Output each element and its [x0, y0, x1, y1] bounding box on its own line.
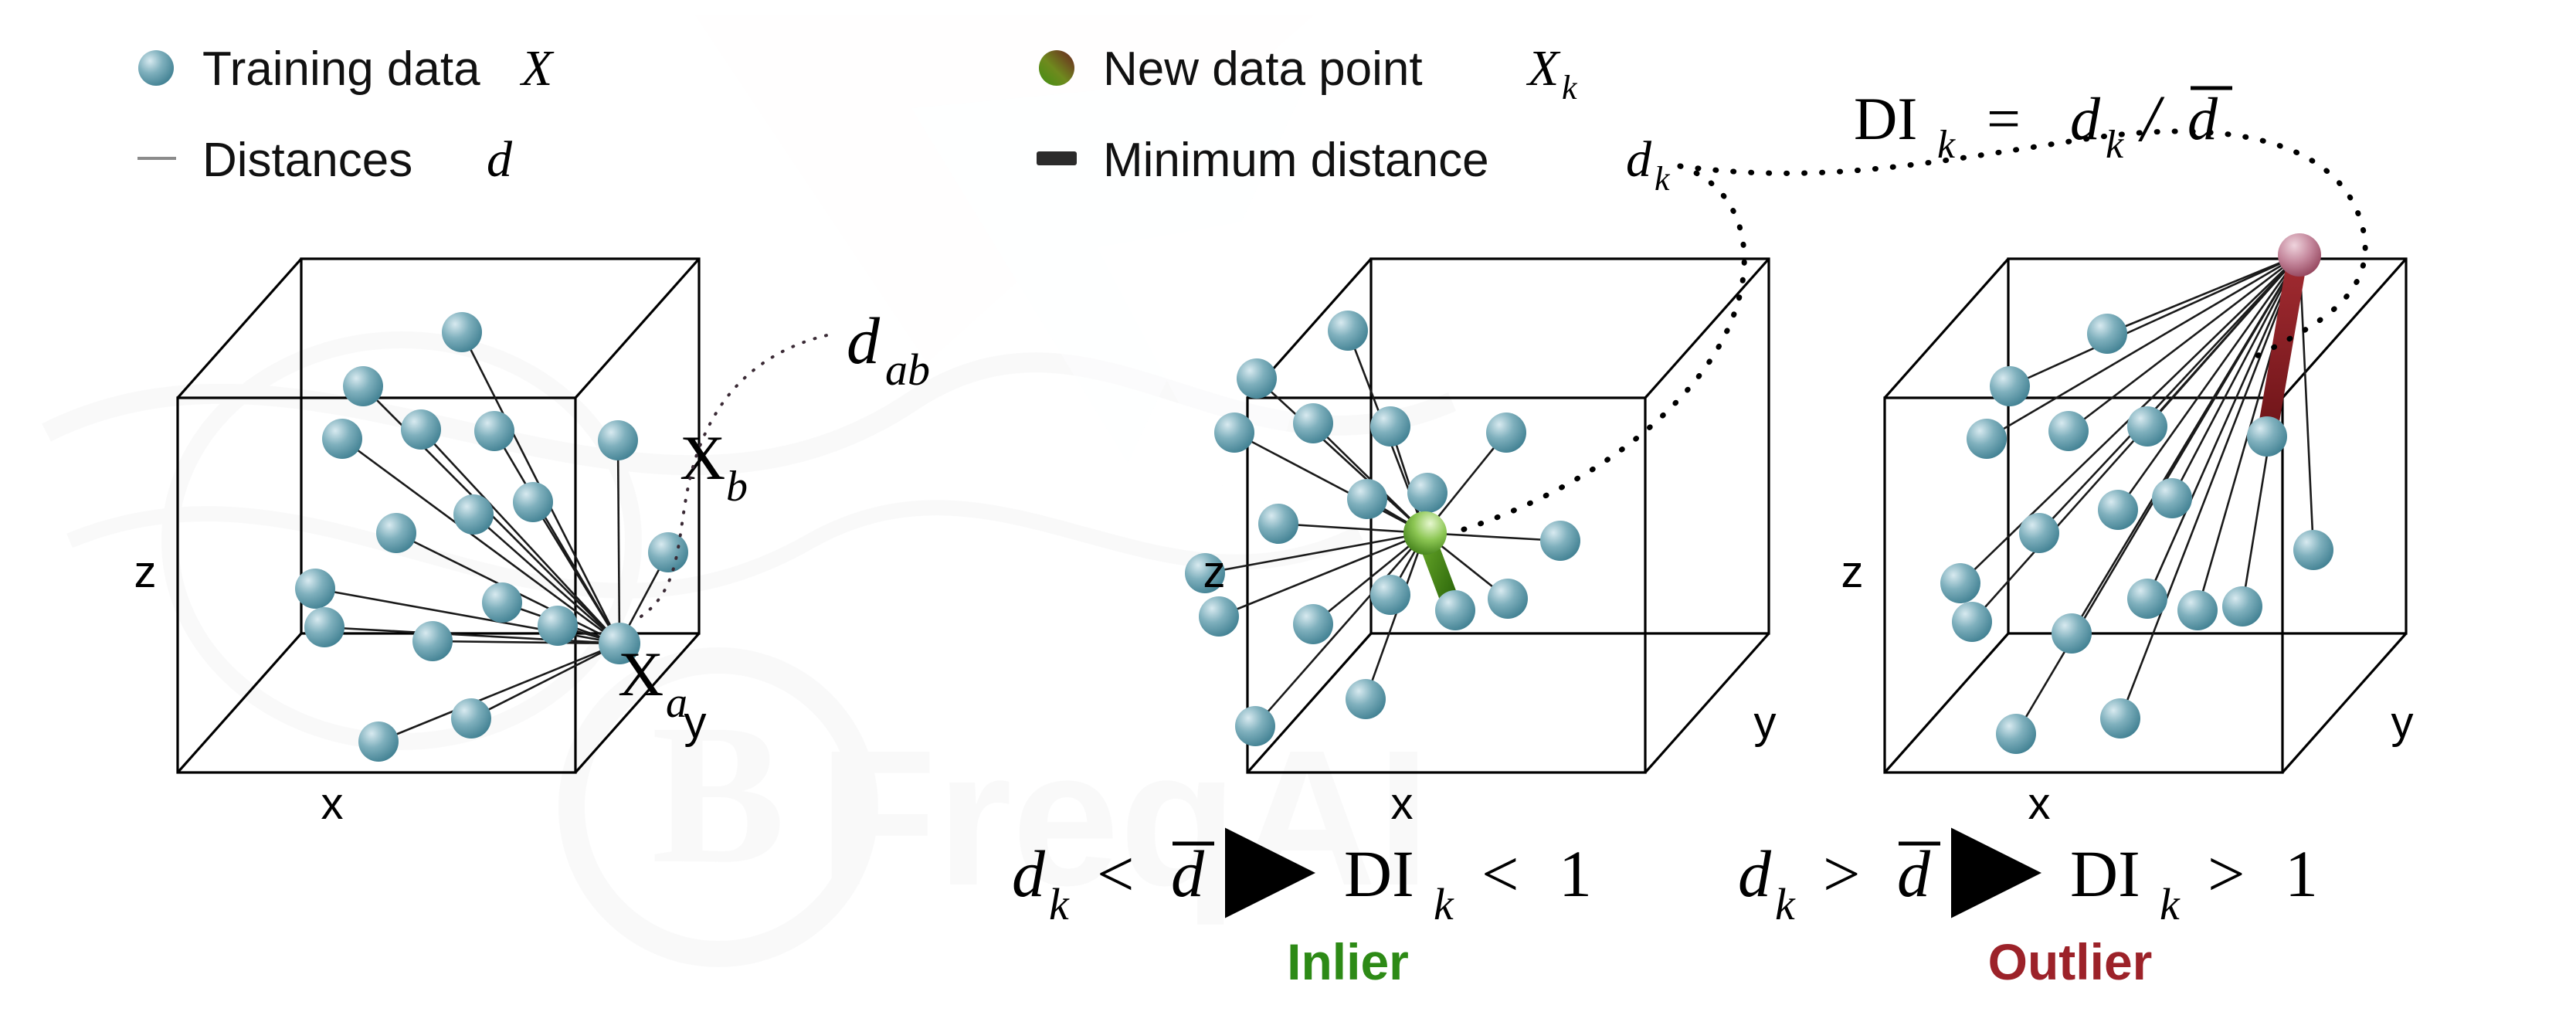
- training-point: [2222, 586, 2262, 626]
- panel-inlier: z x y: [1185, 259, 1777, 829]
- training-point: [1952, 602, 1992, 642]
- training-point: [401, 409, 441, 450]
- training-point: [295, 569, 335, 609]
- training-point: [1996, 714, 2036, 754]
- axis-label-x: x: [2028, 779, 2051, 829]
- axis-label-x: x: [321, 779, 344, 829]
- thick-dash-icon: [1037, 151, 1077, 165]
- training-points-inlier: [1185, 311, 1580, 746]
- callout-dk-to-inlier: [1452, 166, 1744, 533]
- svg-text:b: b: [726, 463, 748, 511]
- training-point: [1370, 575, 1410, 615]
- training-point: [322, 419, 362, 459]
- nearest-training-point-inlier: [1435, 590, 1475, 630]
- svg-text:k: k: [1049, 879, 1070, 929]
- training-point: [1940, 563, 1980, 603]
- axis-label-z: z: [1841, 547, 1864, 597]
- legend-label-distances: Distances: [202, 134, 412, 187]
- legend: Training data X Distances d New data poi…: [137, 40, 1671, 198]
- distance-lines-outlier: [1960, 255, 2313, 734]
- callout-dk-to-outlier: [1680, 131, 2365, 363]
- svg-text:DI: DI: [1344, 837, 1414, 911]
- svg-text:X: X: [618, 639, 664, 709]
- svg-text:k: k: [1562, 69, 1578, 107]
- svg-text:d: d: [2187, 85, 2218, 152]
- legend-label-minimum-distance: Minimum distance: [1103, 134, 1489, 187]
- training-point: [1346, 679, 1386, 719]
- legend-label-new-data-point: New data point: [1103, 42, 1423, 96]
- svg-text:k: k: [1655, 160, 1671, 198]
- panel-training: X b X a d ab z x y: [134, 259, 931, 829]
- svg-text:d: d: [847, 304, 881, 378]
- legend-symbol-minimum-distance: d k: [1626, 131, 1671, 198]
- legend-symbol-distances: d: [487, 131, 513, 188]
- training-point: [2293, 530, 2333, 570]
- svg-text:=: =: [1987, 85, 2021, 152]
- training-point: [2127, 406, 2167, 446]
- training-point: [1407, 473, 1448, 513]
- svg-text:d: d: [1738, 837, 1772, 911]
- legend-item-training-data: Training data X: [138, 40, 555, 97]
- training-point: [2087, 314, 2127, 354]
- training-point: [482, 582, 522, 623]
- training-point: [451, 698, 491, 738]
- svg-text:d: d: [1897, 837, 1931, 911]
- axis-label-z: z: [1203, 547, 1226, 597]
- training-point: [1540, 521, 1580, 561]
- training-point: [376, 513, 416, 553]
- svg-text:d: d: [1626, 131, 1652, 188]
- svg-text:ab: ab: [885, 345, 930, 395]
- training-point: [343, 366, 383, 406]
- training-point: [1293, 403, 1333, 443]
- axis-label-y: y: [2391, 698, 2414, 748]
- legend-item-minimum-distance: Minimum distance d k: [1037, 131, 1671, 198]
- training-point: [1370, 406, 1410, 446]
- formula-di-definition: DI k = d k / d: [1854, 81, 2232, 167]
- axis-label-y: y: [684, 698, 707, 748]
- training-point: [412, 621, 453, 661]
- training-point: [2152, 478, 2192, 518]
- legend-symbol-new-data-point: X k: [1526, 40, 1578, 107]
- label-dab: d ab: [847, 304, 930, 395]
- training-point: [442, 312, 482, 352]
- diagram-canvas: Training data X Distances d New data poi…: [0, 0, 2576, 1022]
- training-point: [598, 420, 638, 460]
- verdict-outlier: Outlier: [1988, 933, 2153, 990]
- training-point: [1328, 311, 1368, 351]
- caption-inlier: d k < d DI k < 1: [1012, 837, 1592, 929]
- training-point: [474, 411, 514, 451]
- axis-label-z: z: [134, 547, 157, 597]
- training-point: [2100, 698, 2140, 738]
- axis-label-y: y: [1754, 698, 1777, 748]
- new-data-point-outlier: [2278, 233, 2321, 277]
- training-point: [1199, 596, 1239, 637]
- training-point: [1293, 604, 1333, 644]
- training-point: [1258, 504, 1298, 544]
- legend-symbol-training-data: X: [519, 40, 555, 97]
- legend-item-distances: Distances d: [137, 131, 513, 188]
- training-point-xb: [648, 532, 688, 572]
- axis-label-x: x: [1391, 779, 1414, 829]
- svg-text:>: >: [1823, 837, 1861, 911]
- verdict-inlier: Inlier: [1287, 933, 1409, 990]
- training-point: [453, 494, 494, 535]
- training-point: [1967, 419, 2007, 459]
- svg-text:d: d: [1171, 837, 1205, 911]
- training-point: [538, 606, 578, 646]
- training-point: [2019, 513, 2059, 553]
- svg-text:d: d: [1012, 837, 1046, 911]
- nearest-training-point-outlier: [2247, 416, 2287, 457]
- training-point: [358, 722, 399, 762]
- svg-text:X: X: [680, 423, 725, 493]
- svg-text:1: 1: [2285, 837, 2318, 911]
- training-point: [1347, 479, 1387, 519]
- svg-text:k: k: [1434, 879, 1454, 929]
- svg-text:>: >: [2208, 837, 2245, 911]
- figure-root: B FreqAI: [0, 0, 2576, 1022]
- sphere-green-red-icon: [1039, 50, 1074, 86]
- training-point: [1214, 413, 1254, 453]
- panel-outlier: z x y: [1841, 233, 2414, 829]
- caption-outlier: d k > d DI k > 1: [1738, 837, 2318, 929]
- svg-text:DI: DI: [2070, 837, 2140, 911]
- svg-text:/: /: [2138, 81, 2165, 155]
- training-point: [304, 607, 344, 647]
- label-xb: X b: [680, 423, 748, 511]
- svg-text:d: d: [2070, 85, 2101, 152]
- svg-text:k: k: [2160, 879, 2181, 929]
- training-point: [2177, 590, 2218, 630]
- training-point: [2127, 579, 2167, 619]
- svg-text:k: k: [2106, 123, 2124, 167]
- training-point: [513, 482, 553, 522]
- cube-wireframe-inlier: [1247, 259, 1769, 772]
- svg-text:k: k: [1775, 879, 1796, 929]
- training-point: [2052, 613, 2092, 654]
- training-point: [2048, 411, 2089, 451]
- legend-item-new-data-point: New data point X k: [1039, 40, 1578, 107]
- training-point: [1488, 579, 1528, 619]
- svg-text:X: X: [1526, 40, 1561, 97]
- training-point: [1990, 366, 2030, 406]
- sphere-teal-icon: [138, 50, 174, 86]
- training-point: [2098, 490, 2138, 530]
- svg-text:<: <: [1097, 837, 1135, 911]
- new-data-point-inlier: [1403, 511, 1447, 555]
- legend-label-training-data: Training data: [202, 42, 480, 96]
- svg-text:DI: DI: [1854, 85, 1917, 152]
- training-point: [1237, 358, 1277, 399]
- training-point: [1486, 413, 1526, 453]
- svg-text:1: 1: [1559, 837, 1592, 911]
- svg-text:<: <: [1481, 837, 1519, 911]
- training-point: [1235, 706, 1275, 746]
